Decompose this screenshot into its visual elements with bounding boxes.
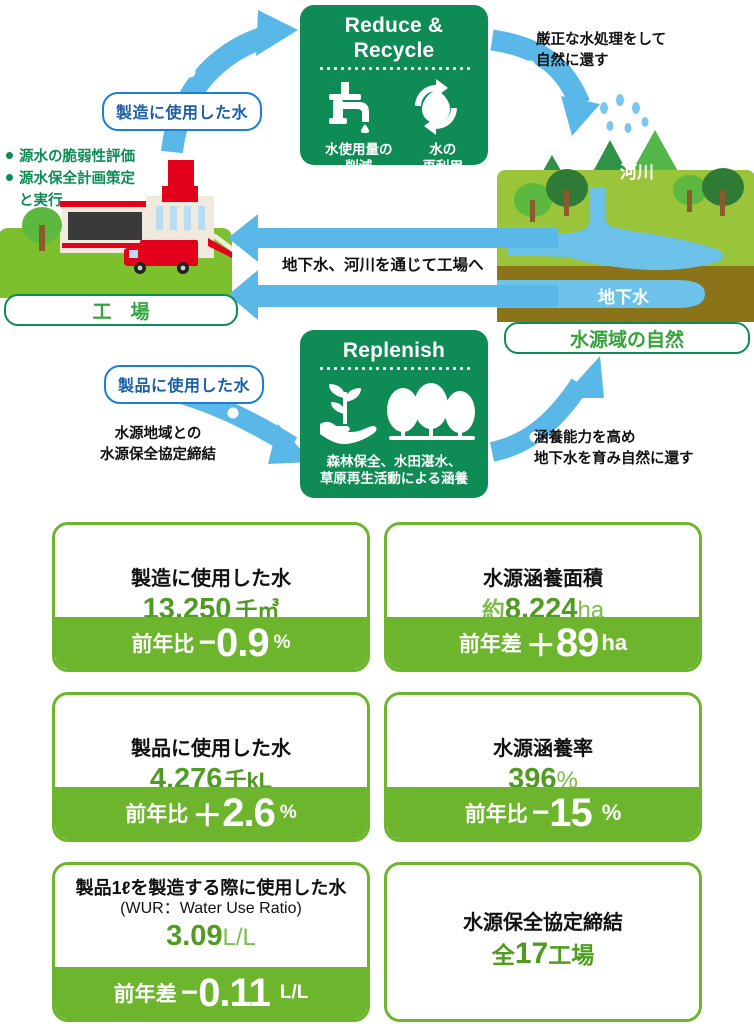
- card-label: 水源保全協定締結: [463, 912, 623, 935]
- label-watershed-nature: 水源域の自然: [504, 322, 750, 354]
- card-footer: 前年差 ＋ 89 ha: [387, 617, 699, 669]
- bullet-item: 源水保全計画策定: [6, 169, 135, 191]
- infographic-root: 源水の脆弱性評価 源水保全計画策定 と実行 Reduce & Recycle: [0, 0, 754, 1030]
- card-footer: 前年比 ＋ 2.6 %: [55, 787, 367, 839]
- bullet-dot-icon: [6, 152, 13, 159]
- note-groundwater-river-to-factory: 地下水、河川を通じて工場へ: [282, 255, 484, 277]
- card-label: 水源涵養率: [493, 738, 593, 761]
- faucet-caption: 水使用量の 削減: [325, 142, 393, 176]
- card-footer-unit: %: [602, 800, 622, 826]
- card-footer-label: 前年差: [114, 978, 177, 1008]
- card-footer-number: 0.11: [198, 971, 270, 1016]
- note-recharge-capacity: 涵養能力を高め 地下水を育み自然に還す: [534, 428, 694, 470]
- recycle-caption: 水の 再利用: [423, 142, 464, 176]
- divider-dotted: [318, 367, 470, 370]
- card-label: 製造に使用した水: [131, 568, 291, 591]
- card-footer-label: 前年比: [465, 798, 528, 828]
- card-footer-number: 0.9: [216, 621, 269, 666]
- note-watershed-agreement: 水源地域との 水源保全協定締結: [58, 424, 258, 466]
- card-footer-label: 前年比: [125, 798, 188, 828]
- card-footer-label: 前年差: [459, 628, 522, 658]
- replenish-card: Replenish: [300, 330, 488, 498]
- replenish-caption: 森林保全、水田湛水、 草原再生活動による涵養: [310, 454, 478, 488]
- label-river: 河川: [620, 158, 654, 183]
- card-label: 製品1ℓを製造する際に使用した水: [76, 878, 347, 899]
- note-strict-water-treatment: 厳正な水処理をして 自然に還す: [536, 30, 666, 72]
- card-footer-sign: −: [198, 626, 216, 660]
- label-water-used-manufacturing: 製造に使用した水: [102, 92, 262, 131]
- source-water-bullets: 源水の脆弱性評価 源水保全計画策定 と実行: [6, 147, 135, 212]
- card-footer: 前年差 − 0.11 L/L: [55, 967, 367, 1019]
- card-footer-unit: %: [280, 802, 297, 824]
- card-label: 製品に使用した水: [131, 738, 291, 761]
- forest-trees-icon: [385, 380, 477, 448]
- faucet-icon: [321, 76, 383, 138]
- card-water-use-ratio: 製品1ℓを製造する際に使用した水 (WUR：Water Use Ratio) 3…: [52, 862, 370, 1022]
- label-factory: 工 場: [4, 294, 238, 326]
- reduce-recycle-title: Reduce & Recycle: [310, 13, 478, 63]
- card-value: 全 17 工場: [492, 937, 594, 972]
- card-footer: 前年比 − 15 %: [387, 787, 699, 839]
- water-recycle-icon: [405, 76, 467, 138]
- reduce-recycle-card: Reduce & Recycle: [300, 5, 488, 165]
- card-footer-sign: −: [532, 796, 550, 830]
- card-footer-unit: L/L: [280, 982, 309, 1004]
- bullet-dot-icon: [6, 174, 13, 181]
- card-water-recharge-area: 水源涵養面積 約 8,224 ha 前年差 ＋ 89 ha: [384, 522, 702, 672]
- card-footer-sign: ＋: [526, 621, 556, 665]
- bullet-item-continued: と実行: [6, 191, 135, 213]
- label-water-used-product: 製品に使用した水: [104, 365, 264, 404]
- bullet-item: 源水の脆弱性評価: [6, 147, 135, 169]
- card-label: 水源涵養面積: [483, 568, 603, 591]
- card-sublabel: (WUR：Water Use Ratio): [120, 899, 302, 918]
- card-footer-label: 前年比: [131, 628, 194, 658]
- card-footer-number: 2.6: [222, 791, 275, 836]
- card-water-used-product: 製品に使用した水 4,276 千kL 前年比 ＋ 2.6 %: [52, 692, 370, 842]
- divider-dotted: [318, 67, 470, 70]
- replenish-title: Replenish: [310, 338, 478, 363]
- card-footer: 前年比 − 0.9 %: [55, 617, 367, 669]
- card-footer-number: 89: [556, 621, 599, 666]
- card-water-recharge-rate: 水源涵養率 396 % 前年比 − 15 %: [384, 692, 702, 842]
- card-footer-unit: ha: [601, 630, 627, 656]
- card-footer-sign: −: [181, 976, 199, 1010]
- card-value: 3.09 L/L: [166, 920, 256, 953]
- water-cycle-diagram: 源水の脆弱性評価 源水保全計画策定 と実行 Reduce & Recycle: [0, 0, 754, 510]
- card-water-source-agreements: 水源保全協定締結 全 17 工場: [384, 862, 702, 1022]
- label-groundwater: 地下水: [598, 283, 649, 308]
- hand-sprout-icon: [312, 380, 382, 448]
- card-footer-number: 15: [549, 791, 592, 836]
- card-footer-unit: %: [274, 632, 291, 654]
- card-water-used-manufacturing: 製造に使用した水 13,250 千㎥ 前年比 − 0.9 %: [52, 522, 370, 672]
- statistics-cards: 製造に使用した水 13,250 千㎥ 前年比 − 0.9 % 水源涵養面積 約 …: [0, 512, 754, 1030]
- card-footer-sign: ＋: [192, 791, 222, 835]
